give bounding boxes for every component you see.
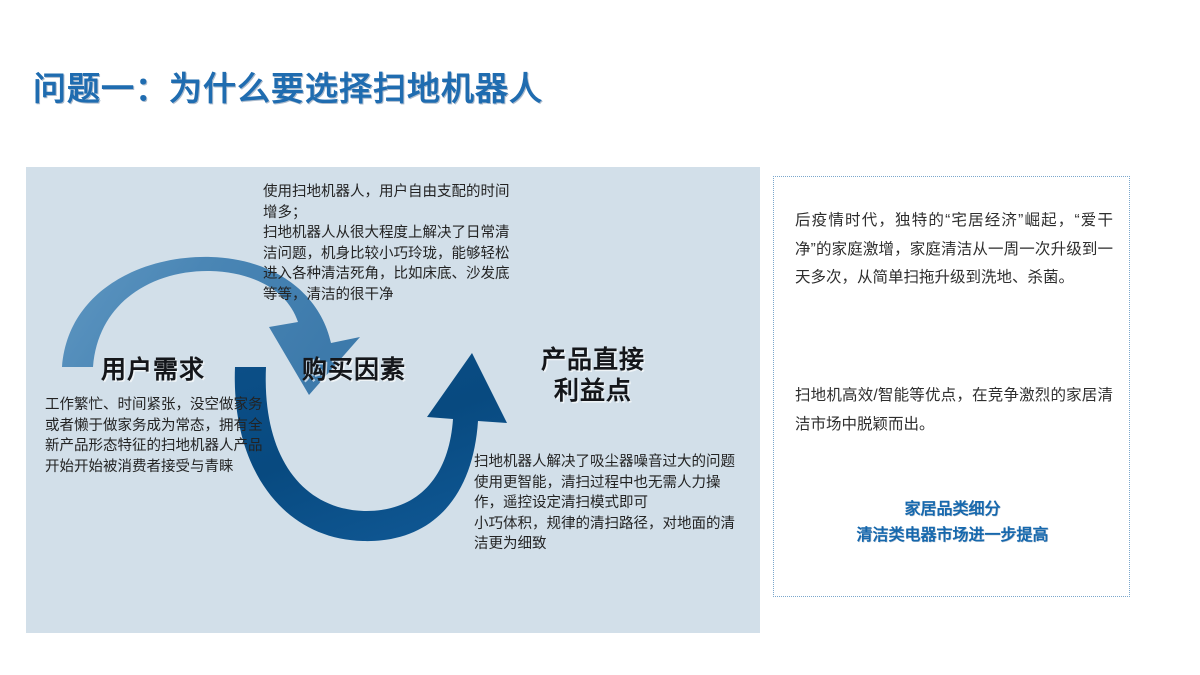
stage-user-demand: 用户需求 bbox=[101, 350, 205, 386]
insight-paragraph-2: 扫地机高效/智能等优点，在竞争激烈的家居清洁市场中脱颖而出。 bbox=[795, 382, 1113, 439]
insight-panel: 后疫情时代，独特的“宅居经济”崛起，“爱干净”的家庭激增，家庭清洁从一周一次升级… bbox=[773, 176, 1130, 597]
user-demand-description: 工作繁忙、时间紧张，没空做家务或者懒于做家务成为常态，拥有全新产品形态特征的扫地… bbox=[45, 395, 273, 477]
stage-product-benefit: 产品直接 利益点 bbox=[513, 345, 673, 408]
insight-highlight-line-1: 家居品类细分 bbox=[774, 497, 1131, 523]
purchase-factor-description: 使用扫地机器人，用户自由支配的时间增多； 扫地机器人从很大程度上解决了日常清洁问… bbox=[263, 182, 515, 305]
insight-highlight: 家居品类细分 清洁类电器市场进一步提高 bbox=[774, 497, 1131, 549]
stage-purchase-factor: 购买因素 bbox=[302, 350, 406, 386]
page-title: 问题一：为什么要选择扫地机器人 bbox=[33, 62, 543, 110]
insight-highlight-line-2: 清洁类电器市场进一步提高 bbox=[774, 523, 1131, 549]
insight-paragraph-1: 后疫情时代，独特的“宅居经济”崛起，“爱干净”的家庭激增，家庭清洁从一周一次升级… bbox=[795, 207, 1113, 293]
product-benefit-description: 扫地机器人解决了吸尘器噪音过大的问题 使用更智能，清扫过程中也无需人力操作，遥控… bbox=[474, 452, 742, 555]
